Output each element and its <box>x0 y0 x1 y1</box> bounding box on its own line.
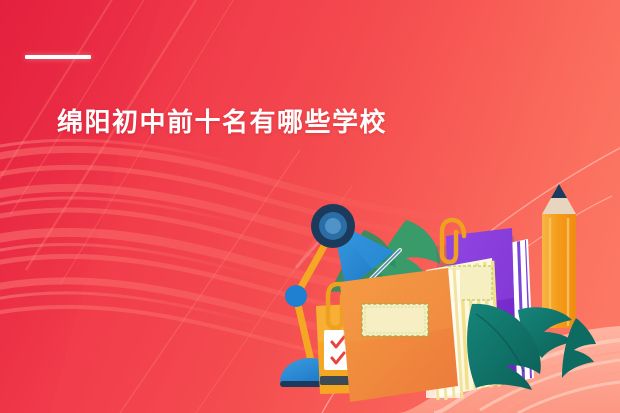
orange-notebook-icon <box>340 268 458 402</box>
promo-banner: 绵阳初中前十名有哪些学校 <box>0 0 620 413</box>
accent-rule <box>25 55 91 59</box>
pencil-icon <box>542 184 576 328</box>
stationery-illustration <box>276 178 620 413</box>
page-title: 绵阳初中前十名有哪些学校 <box>57 106 387 140</box>
